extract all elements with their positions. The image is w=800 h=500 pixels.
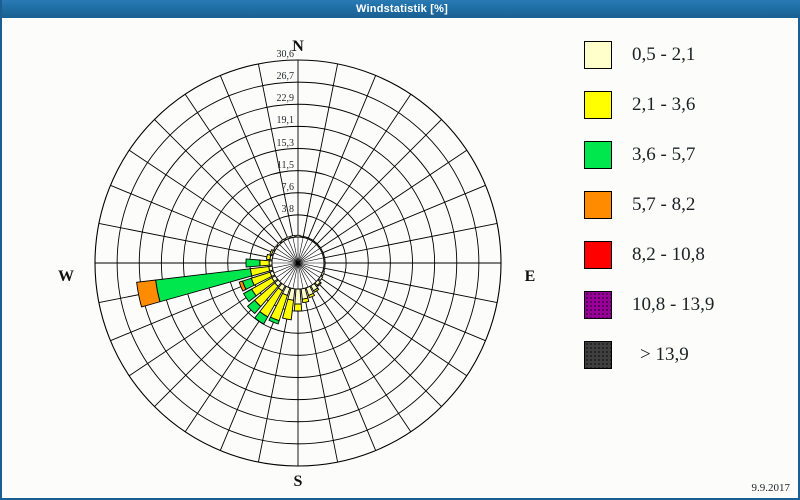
radial-tick-label: 22,9 xyxy=(252,93,294,104)
legend-row: > 13,9 xyxy=(584,330,794,380)
legend-swatch xyxy=(584,341,612,369)
compass-label-west: W xyxy=(46,268,86,286)
radial-tick-label: 19,1 xyxy=(252,115,294,126)
wind-rose-svg xyxy=(2,18,568,498)
legend-label: 10,8 - 13,9 xyxy=(632,294,714,316)
date-stamp: 9.9.2017 xyxy=(752,482,791,494)
legend-row: 8,2 - 10,8 xyxy=(584,230,794,280)
window-title: Windstatistik [%] xyxy=(356,3,448,15)
wind-rose-segment xyxy=(266,254,270,259)
legend-swatch xyxy=(584,191,612,219)
wind-rose-segment xyxy=(302,298,308,303)
radial-tick-label: 15,3 xyxy=(252,138,294,149)
radial-tick-label: 30,6 xyxy=(252,49,294,60)
legend-swatch xyxy=(584,141,612,169)
wind-rose-plot: N E S W 3,87,611,515,319,122,926,730,6 xyxy=(2,18,568,498)
legend-row: 2,1 - 3,6 xyxy=(584,80,794,130)
legend-label: 5,7 - 8,2 xyxy=(632,194,695,216)
legend-swatch xyxy=(584,241,612,269)
wind-rose-segment xyxy=(137,280,160,307)
legend-label: 2,1 - 3,6 xyxy=(632,94,695,116)
radial-tick-label: 3,8 xyxy=(252,204,294,215)
wind-rose-segment xyxy=(246,259,260,267)
wind-rose-segment xyxy=(156,269,252,302)
legend-row: 3,6 - 5,7 xyxy=(584,130,794,180)
speed-bin-legend: 0,5 - 2,12,1 - 3,63,6 - 5,75,7 - 8,28,2 … xyxy=(584,30,794,380)
wind-rose-segment xyxy=(294,304,301,311)
legend-label: 3,6 - 5,7 xyxy=(632,144,695,166)
legend-row: 5,7 - 8,2 xyxy=(584,180,794,230)
radial-tick-label: 7,6 xyxy=(252,182,294,193)
legend-label: 8,2 - 10,8 xyxy=(632,244,705,266)
legend-label: 0,5 - 2,1 xyxy=(632,44,695,66)
wind-rose-segment xyxy=(295,289,301,304)
legend-row: 10,8 - 13,9 xyxy=(584,280,794,330)
legend-swatch xyxy=(584,41,612,69)
radial-tick-label: 26,7 xyxy=(252,71,294,82)
compass-label-east: E xyxy=(510,268,550,286)
legend-row: 0,5 - 2,1 xyxy=(584,30,794,80)
legend-label: > 13,9 xyxy=(640,344,689,366)
wind-statistics-window: Windstatistik [%] N E S W 3,87,611,515,3… xyxy=(0,0,800,500)
window-titlebar: Windstatistik [%] xyxy=(2,0,800,18)
rose-center-hub xyxy=(272,237,324,289)
radial-tick-label: 11,5 xyxy=(252,160,294,171)
compass-label-south: S xyxy=(278,473,318,491)
legend-swatch xyxy=(584,291,612,319)
legend-swatch xyxy=(584,91,612,119)
wind-rose-segment xyxy=(260,260,269,266)
